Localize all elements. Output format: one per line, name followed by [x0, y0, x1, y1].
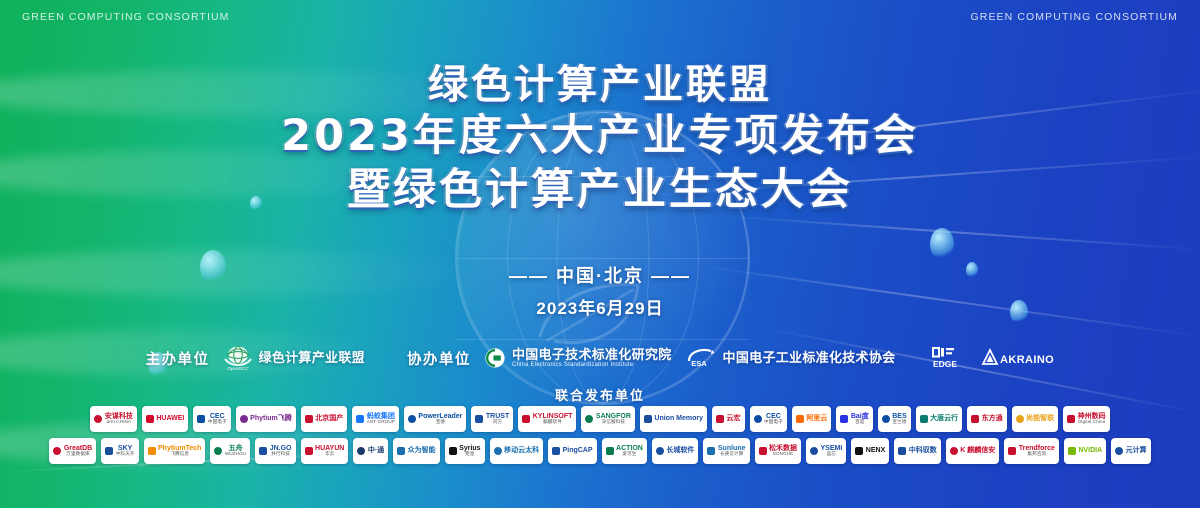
partner-logo-chip: 中科驭数	[894, 438, 941, 464]
partner-logo-chip: 尚能智联	[1012, 406, 1059, 432]
partner-logo-subname: arm CHINA	[105, 420, 133, 425]
partner-logo-name: CEC中国电子	[764, 413, 783, 425]
partner-logo-chip: SKY中科天齐	[101, 438, 138, 464]
partner-logo-subname: ANT GROUP	[367, 420, 395, 425]
partner-logo-row-1: 安谋科技arm CHINAHUAWEICEC中国电子Phytium飞腾北京国产蚂…	[0, 406, 1200, 432]
partner-logo-mark-icon	[759, 447, 767, 455]
partner-logo-chip: 众为智能	[393, 438, 440, 464]
bg-band-2	[0, 150, 440, 196]
coorganizer-esa: ESA 中国电子工业标准化技术协会	[685, 347, 896, 369]
esa-name: 中国电子工业标准化技术协会	[723, 351, 896, 365]
partner-logo-subname: Digital China	[1078, 420, 1106, 425]
cesi-logo-icon	[484, 347, 506, 369]
partner-logo-mark-icon	[408, 415, 416, 423]
partner-logo-chip: NENX	[851, 438, 889, 464]
partner-logo-name: Sunlune长庚云计算	[718, 445, 746, 457]
partner-logo-mark-icon	[397, 447, 405, 455]
partner-logo-mark-icon	[305, 415, 313, 423]
partner-logo-mark-icon	[855, 447, 863, 455]
bokeh-1	[200, 250, 226, 284]
partner-logo-mark-icon	[644, 415, 652, 423]
partner-logo-subname: 宝德	[418, 420, 462, 425]
bg-band-3	[0, 250, 480, 296]
partner-logo-chip: BES宝兰德	[878, 406, 911, 432]
partner-logo-mark-icon	[882, 415, 890, 423]
partner-logo-subname: 中国电子	[208, 420, 227, 425]
partner-logo-name: Bai度百度	[851, 413, 869, 425]
partner-logo-name: 北京国产	[315, 415, 343, 422]
bokeh-5	[966, 262, 978, 278]
partner-logo-name: 移动云太科	[504, 447, 539, 454]
partner-logo-mark-icon	[716, 415, 724, 423]
corner-text-left: GREEN COMPUTING CONSORTIUM	[22, 11, 230, 23]
partner-logo-mark-icon	[94, 415, 102, 423]
partner-logo-mark-icon	[810, 447, 818, 455]
partner-logo-mark-icon	[707, 447, 715, 455]
partner-logo-name: SKY中科天齐	[116, 445, 135, 457]
partner-logo-name: SANGFOR深信服科技	[596, 413, 631, 425]
svg-text:ESA: ESA	[691, 359, 707, 368]
partner-logo-name: HUAWEI	[156, 415, 184, 422]
partner-logo-subname: WUZHOU	[225, 452, 246, 457]
partner-logo-chip: 元计算	[1111, 438, 1151, 464]
partner-logo-mark-icon	[950, 447, 958, 455]
partner-logo-mark-icon	[197, 415, 205, 423]
partner-logo-mark-icon	[357, 447, 365, 455]
partner-logo-row-2: GreatDB万里数据库SKY中科天齐PhytiumTech飞腾信息五舟WUZH…	[0, 438, 1200, 464]
partner-logo-name: 众为智能	[408, 447, 436, 454]
title-line-1: 绿色计算产业联盟	[0, 62, 1200, 108]
partner-logo-name: Union Memory	[654, 415, 703, 422]
partner-logo-mark-icon	[522, 415, 530, 423]
partner-logo-name: 蚂蚁集团ANT GROUP	[367, 413, 395, 425]
partner-logo-chip: Syrius炬星	[445, 438, 485, 464]
partner-logo-mark-icon	[494, 447, 502, 455]
partner-logo-mark-icon	[1016, 415, 1024, 423]
partner-logo-mark-icon	[475, 415, 483, 423]
cesi-name-en: China Electronics Standardization Instit…	[512, 362, 672, 368]
bg-swoosh-4	[692, 264, 1200, 338]
partner-logo-mark-icon	[305, 447, 313, 455]
partner-logo-chip: JN.GO并行科技	[255, 438, 295, 464]
partner-logo-chip: PowerLeader宝德	[404, 406, 466, 432]
opengcc-logo-icon: OpenGCC	[223, 345, 253, 371]
partner-logo-name: PowerLeader宝德	[418, 413, 462, 425]
partner-logo-name: 东方通	[982, 415, 1003, 422]
partner-logo-chip: PhytiumTech飞腾信息	[144, 438, 206, 464]
coorganizer-label: 协办单位	[407, 348, 471, 369]
partner-logo-subname: 深信服科技	[596, 420, 631, 425]
host-name: 绿色计算产业联盟	[259, 351, 365, 365]
partner-logo-name: Trendforce集邦咨询	[1019, 445, 1055, 457]
partner-logo-name: 元计算	[1126, 447, 1147, 454]
partner-logo-name: 中科驭数	[909, 447, 937, 454]
akraino-logo-icon: AKRAINO	[980, 346, 1054, 370]
partner-logo-name: PhytiumTech飞腾信息	[158, 445, 201, 457]
partner-logo-mark-icon	[1115, 447, 1123, 455]
partner-logo-chip: Phytium飞腾	[236, 406, 296, 432]
partner-logo-name: CEC中国电子	[208, 413, 227, 425]
partner-logo-name: 中·通	[368, 447, 384, 454]
partner-logo-subname: 并行科技	[270, 452, 292, 457]
partner-logo-mark-icon	[552, 447, 560, 455]
partner-logo-name: Syrius炬星	[459, 445, 480, 457]
partner-logo-chip: 安谋科技arm CHINA	[90, 406, 137, 432]
partner-logo-mark-icon	[240, 415, 248, 423]
partner-logo-chip: 移动云太科	[490, 438, 544, 464]
bg-swoosh-2	[641, 155, 1200, 197]
title-line-3: 暨绿色计算产业生态大会	[0, 166, 1200, 216]
cesi-name-cn: 中国电子技术标准化研究院	[512, 348, 672, 362]
partner-logo-name: 阿里云	[806, 415, 827, 422]
partner-logo-chip: 神州数码Digital China	[1063, 406, 1110, 432]
partner-logo-mark-icon	[356, 415, 364, 423]
partner-logo-subname: 万里数据库	[64, 452, 92, 457]
partner-logo-name: 神州数码Digital China	[1078, 413, 1106, 425]
organizer-strip: 主办单位 OpenGCC 绿色计算产业联盟 协办单位	[0, 345, 1200, 371]
partner-logo-mark-icon	[971, 415, 979, 423]
esa-logo-icon: ESA	[685, 347, 717, 369]
partner-logo-subname: SONGHE	[769, 452, 797, 457]
partner-logo-name: 五舟WUZHOU	[225, 445, 246, 457]
partner-logo-name: HUAYUN华云	[315, 445, 344, 457]
partner-logo-name: PingCAP	[563, 447, 593, 454]
cesi-name: 中国电子技术标准化研究院 China Electronics Standardi…	[512, 348, 672, 369]
event-location: —— 中国·北京 ——	[0, 262, 1200, 288]
partner-logo-mark-icon	[1068, 447, 1076, 455]
partner-logo-chip: 松禾数据SONGHE	[755, 438, 802, 464]
partner-logo-subname: 同方	[486, 420, 509, 425]
title-block: 绿色计算产业联盟 2023年度六大产业专项发布会 暨绿色计算产业生态大会	[0, 62, 1200, 216]
bg-swoosh-1	[702, 88, 1200, 153]
bg-swoosh-3	[721, 215, 1200, 251]
partner-logo-mark-icon	[796, 415, 804, 423]
partner-logo-chip: 东方通	[967, 406, 1007, 432]
subtitle-block: —— 中国·北京 —— 2023年6月29日	[0, 262, 1200, 319]
partner-logo-mark-icon	[585, 415, 593, 423]
partner-logo-subname: 华云	[315, 452, 344, 457]
partner-logo-subname: 爱可生	[616, 452, 643, 457]
title-line-2: 2023年度六大产业专项发布会	[0, 112, 1200, 162]
partner-logo-chip: 五舟WUZHOU	[210, 438, 250, 464]
partner-logo-mark-icon	[105, 447, 113, 455]
partner-logo-name: 松禾数据SONGHE	[769, 445, 797, 457]
bg-band-1	[0, 70, 520, 116]
partner-logo-mark-icon	[148, 447, 156, 455]
lfedge-logo-icon: EDGE	[931, 346, 967, 370]
partner-logo-chip: 北京国产	[301, 406, 348, 432]
partner-logo-name: KYLINSOFT麒麟软件	[533, 413, 573, 425]
bokeh-3	[930, 228, 954, 260]
svg-text:OpenGCC: OpenGCC	[227, 366, 249, 371]
partner-logo-chip: Trendforce集邦咨询	[1004, 438, 1059, 464]
partner-logo-chip: Union Memory	[640, 406, 707, 432]
bokeh-4	[1010, 300, 1028, 324]
partner-logo-name: 尚能智联	[1026, 415, 1054, 422]
partner-logo-subname: 中科天齐	[116, 452, 135, 457]
partner-logo-mark-icon	[920, 415, 928, 423]
partner-logo-chip: YSEMI盈芯	[806, 438, 846, 464]
partner-logo-mark-icon	[1008, 447, 1016, 455]
partner-logo-name: Phytium飞腾	[250, 415, 292, 422]
partner-logo-chip: 蚂蚁集团ANT GROUP	[352, 406, 399, 432]
banner-stage: GREEN COMPUTING CONSORTIUM GREEN COMPUTI…	[0, 0, 1200, 508]
partner-logo-mark-icon	[259, 447, 267, 455]
partner-logo-subname: 百度	[851, 420, 869, 425]
partner-logo-subname: 集邦咨询	[1019, 452, 1055, 457]
partner-logo-subname: 麒麟软件	[533, 420, 573, 425]
partner-logo-chip: CEC中国电子	[750, 406, 787, 432]
partner-logo-name: BES宝兰德	[892, 413, 906, 425]
partner-logo-mark-icon	[656, 447, 664, 455]
partner-logo-name: ACTION爱可生	[616, 445, 643, 457]
partner-logo-name: 安谋科技arm CHINA	[105, 413, 133, 425]
partner-logo-mark-icon	[1067, 415, 1075, 423]
partner-logo-chip: Bai度百度	[836, 406, 872, 432]
partner-logo-chip: HUAYUN华云	[301, 438, 349, 464]
svg-text:AKRAINO: AKRAINO	[1000, 354, 1054, 366]
partner-logo-name: 长城软件	[666, 447, 694, 454]
partner-logo-mark-icon	[840, 415, 848, 423]
partner-logo-name: YSEMI盈芯	[821, 445, 843, 457]
leaf-icon	[530, 275, 650, 355]
esa-name-cn: 中国电子工业标准化技术协会	[723, 351, 896, 365]
bokeh-6	[250, 196, 262, 211]
host-organization: OpenGCC 绿色计算产业联盟	[223, 345, 365, 371]
partner-logo-chip: Sunlune长庚云计算	[703, 438, 749, 464]
partner-logo-chip: ACTION爱可生	[602, 438, 647, 464]
partner-logo-chip: 中·通	[353, 438, 388, 464]
partner-logo-mark-icon	[754, 415, 762, 423]
partner-logo-chip: K 麒麟信安	[946, 438, 1000, 464]
partner-logo-chip: 长城软件	[652, 438, 699, 464]
partner-logo-name: TRUST同方	[486, 413, 509, 425]
host-name-cn: 绿色计算产业联盟	[259, 351, 365, 365]
partner-logo-mark-icon	[898, 447, 906, 455]
partner-logo-mark-icon	[146, 415, 154, 423]
partner-logo-chip: TRUST同方	[471, 406, 513, 432]
partner-logo-name: GreatDB万里数据库	[64, 445, 92, 457]
partner-logo-subname: 炬星	[459, 452, 480, 457]
partner-logo-chip: GreatDB万里数据库	[49, 438, 96, 464]
coorganizer-cesi: 中国电子技术标准化研究院 China Electronics Standardi…	[484, 347, 672, 369]
partner-logo-chip: CEC中国电子	[193, 406, 230, 432]
partner-logo-subname: 宝兰德	[892, 420, 906, 425]
coorganizer-akraino: AKRAINO	[980, 346, 1054, 370]
partner-logo-chip: SANGFOR深信服科技	[581, 406, 635, 432]
partner-logo-chip: PingCAP	[548, 438, 596, 464]
partner-logo-subname: 长庚云计算	[718, 452, 746, 457]
svg-text:EDGE: EDGE	[933, 359, 957, 369]
partner-logo-name: NENX	[866, 447, 885, 454]
partner-logo-name: K 麒麟信安	[960, 447, 995, 454]
partner-logo-name: JN.GO并行科技	[270, 445, 292, 457]
partner-logo-mark-icon	[53, 447, 61, 455]
partner-logo-name: 大唐云行	[930, 415, 958, 422]
coorganizer-lfedge: EDGE	[931, 346, 967, 370]
partner-logo-mark-icon	[449, 447, 457, 455]
corner-text-right: GREEN COMPUTING CONSORTIUM	[971, 11, 1179, 23]
event-date: 2023年6月29日	[0, 294, 1200, 319]
partner-logo-mark-icon	[606, 447, 614, 455]
partner-logo-chip: KYLINSOFT麒麟软件	[518, 406, 576, 432]
host-label: 主办单位	[146, 348, 210, 369]
partner-logo-name: NVIDIA	[1078, 447, 1102, 454]
partner-logo-name: 云宏	[727, 415, 741, 422]
partner-logo-chip: 阿里云	[792, 406, 832, 432]
partner-logo-chip: 云宏	[712, 406, 745, 432]
joint-publishers-label: 联合发布单位	[0, 385, 1200, 404]
partner-logo-chip: 大唐云行	[916, 406, 963, 432]
partner-logo-subname: 盈芯	[821, 452, 843, 457]
partner-logo-chip: NVIDIA	[1064, 438, 1106, 464]
partner-logo-subname: 飞腾信息	[158, 452, 201, 457]
partner-logo-mark-icon	[214, 447, 222, 455]
partner-logo-subname: 中国电子	[764, 420, 783, 425]
partner-logo-chip: HUAWEI	[142, 406, 189, 432]
